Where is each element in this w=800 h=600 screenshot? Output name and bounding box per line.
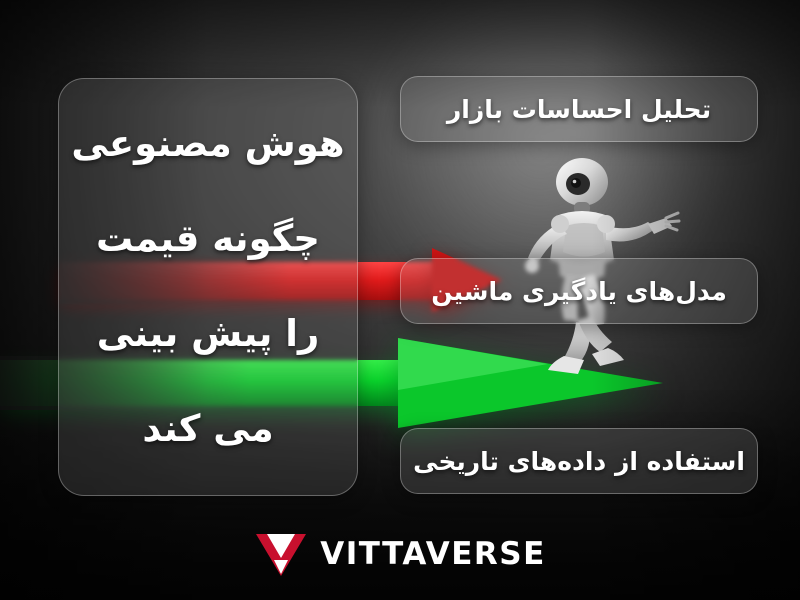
headline-line-3: را پیش بینی	[97, 314, 320, 355]
feature-label-0: تحلیل احساسات بازار	[447, 95, 711, 124]
headline-line-2: چگونه قیمت	[96, 219, 320, 260]
feature-card-machine-learning: مدل‌های یادگیری ماشین	[400, 258, 758, 324]
feature-label-2: استفاده از داده‌های تاریخی	[413, 447, 745, 476]
poster-canvas: هوش مصنوعی چگونه قیمت را پیش بینی می کند…	[0, 0, 800, 600]
feature-label-1: مدل‌های یادگیری ماشین	[431, 277, 727, 306]
v-logo-icon	[254, 530, 308, 578]
headline-line-1: هوش مصنوعی	[71, 124, 344, 165]
feature-card-sentiment-analysis: تحلیل احساسات بازار	[400, 76, 758, 142]
brand-name: VITTAVERSE	[320, 536, 546, 572]
brand-footer: VITTAVERSE	[0, 530, 800, 578]
feature-card-historical-data: استفاده از داده‌های تاریخی	[400, 428, 758, 494]
headline-line-4: می کند	[142, 409, 273, 450]
headline-card: هوش مصنوعی چگونه قیمت را پیش بینی می کند	[58, 78, 358, 496]
